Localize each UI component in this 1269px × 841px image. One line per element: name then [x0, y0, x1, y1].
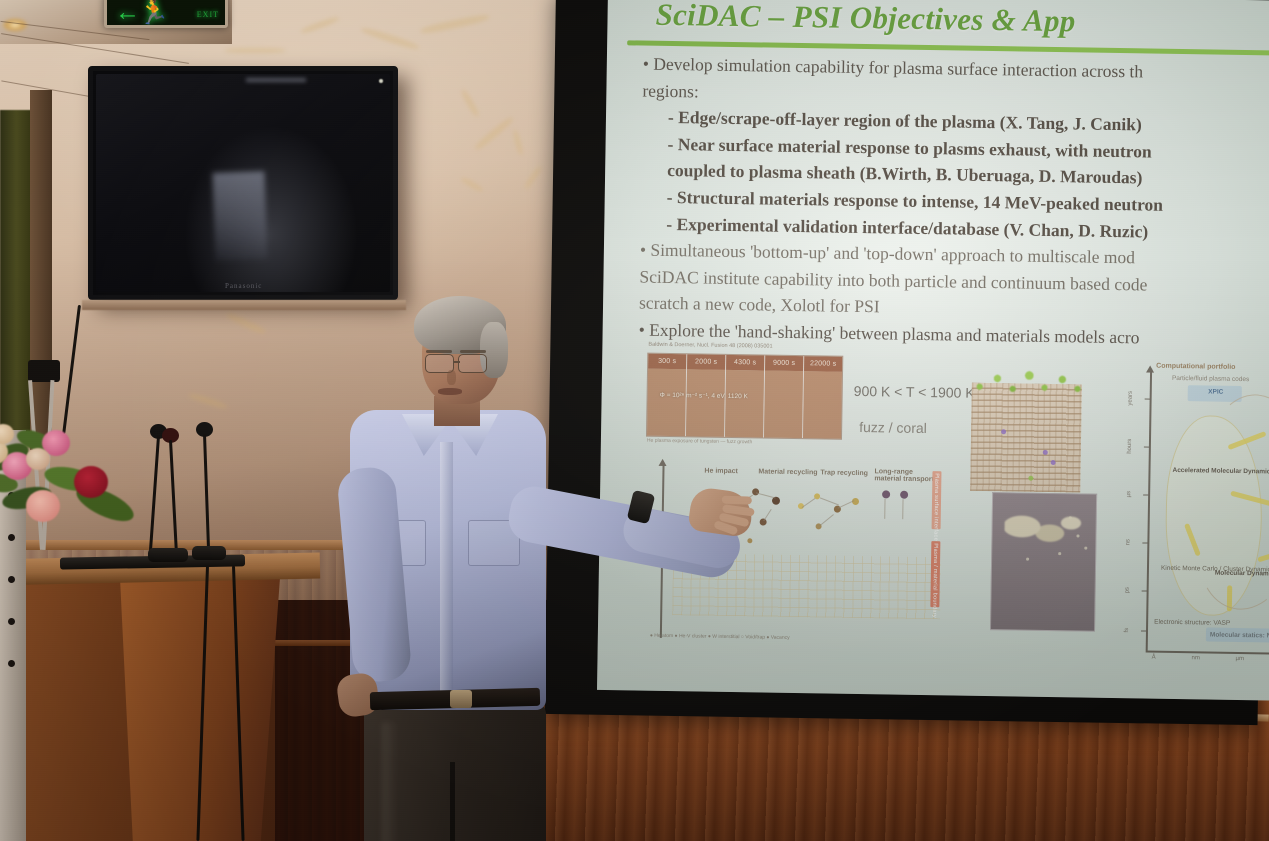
- flower-arrangement: [0, 418, 172, 568]
- time-tick-label: years: [1127, 383, 1133, 413]
- scale-figure-subtitle: Particle/fluid plasma codes: [1172, 375, 1249, 383]
- exit-running-man-icon: ←🏃: [115, 0, 185, 27]
- length-tick-label: Å: [1152, 655, 1156, 661]
- method-box: [1206, 627, 1269, 642]
- flow-column-title: Trap recycling: [820, 469, 868, 477]
- fuzz-coral-note: fuzz / coral: [859, 419, 927, 436]
- exit-sign: ←🏃 EXIT: [104, 0, 228, 28]
- exit-sign-label: EXIT: [197, 10, 219, 19]
- sem-cell-header: 9000 s: [765, 356, 803, 372]
- crystal-lattice: [970, 383, 1082, 493]
- microphone-foot: [192, 546, 226, 560]
- flow-sidebar-label: Plasma surface interface: [932, 471, 942, 529]
- eyebrow: [426, 350, 452, 353]
- time-tick-label: hours: [1127, 431, 1133, 461]
- temperature-range-note: 900 K < T < 1900 K: [854, 383, 975, 401]
- flow-column-title: Material recycling: [758, 468, 817, 476]
- flow-column-title: Long-range material transport: [874, 468, 934, 483]
- time-tick-label: ns: [1125, 527, 1131, 557]
- trouser-highlight: [382, 722, 398, 841]
- trouser-seam: [450, 762, 455, 841]
- tv-screen: [96, 74, 390, 292]
- eyebrow: [460, 350, 486, 353]
- sem-cell-header: 22000 s: [804, 356, 842, 372]
- wall-mark: [225, 48, 285, 53]
- method-label: XPIC: [1194, 388, 1238, 397]
- surface-fuzz-atoms: [968, 363, 1087, 399]
- sem-cell: 9000 s: [764, 356, 804, 439]
- shirt-placket: [440, 442, 453, 702]
- presentation-photo: ←🏃 EXIT Panasonic: [0, 0, 1269, 841]
- length-axis: [1146, 651, 1269, 655]
- tv-power-led-icon: [379, 79, 383, 83]
- length-tick-label: µm: [1236, 656, 1245, 662]
- sem-cell: 22000 s: [803, 356, 842, 439]
- belt-buckle: [450, 690, 472, 708]
- scale-figure-title: Computational portfolio: [1156, 363, 1235, 371]
- time-tick-label: µs: [1126, 479, 1132, 509]
- presenter-mouth: [438, 388, 462, 395]
- tv-reflection: [212, 171, 267, 261]
- time-tick-label: ps: [1124, 575, 1130, 605]
- figure-md-lattice: [970, 363, 1082, 493]
- length-tick-label: nm: [1192, 655, 1200, 661]
- ceiling-light: [2, 18, 28, 32]
- microphone-foot: [148, 548, 188, 562]
- presenter-right-hand-pointing: [687, 486, 755, 538]
- eyeglasses-bridge: [454, 361, 460, 363]
- time-tick-label: fs: [1124, 615, 1130, 645]
- figure-simulation-snapshot: [990, 492, 1097, 632]
- method-label: Electronic structure: VASP: [1154, 619, 1202, 628]
- presenter: [330, 292, 750, 841]
- slide-title: SciDAC – PSI Objectives & App: [655, 0, 1076, 39]
- presenter-nose: [447, 370, 456, 385]
- tv-glare: [246, 78, 306, 82]
- eyeglasses-lens: [458, 354, 487, 373]
- tripod-head: [28, 360, 60, 382]
- time-axis: [1146, 369, 1152, 651]
- flow-sidebar-label: Plasma / material boundary: [930, 541, 940, 607]
- wall-mounted-tv[interactable]: Panasonic: [88, 66, 398, 300]
- tv-brand-label: Panasonic: [225, 282, 262, 290]
- figure-computational-portfolio: Computational portfolio Particle/fluid p…: [1127, 368, 1269, 671]
- simulation-cluster: [1004, 507, 1083, 550]
